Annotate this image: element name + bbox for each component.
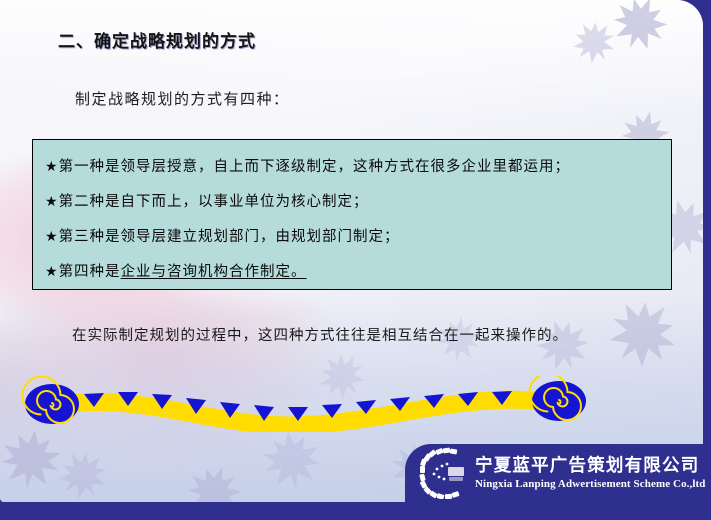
star-bullet-icon: ★ (45, 158, 59, 174)
list-item: ★第一种是领导层授意，自上而下逐级制定，这种方式在很多企业里都运用； (45, 149, 671, 184)
closing-paragraph: 在实际制定规划的过程中，这四种方式往往是相互结合在一起来操作的。 (72, 324, 568, 345)
slide-content-panel: 二、确定战略规划的方式 制定战略规划的方式有四种： ★第一种是领导层授意，自上而… (0, 0, 703, 502)
footer-branding-banner: 宁夏蓝平广告策划有限公司 Ningxia Lanping Adwertiseme… (405, 444, 711, 502)
star-bullet-icon: ★ (45, 263, 59, 279)
list-item-text: 第三种是领导层建立规划部门，由规划部门制定； (59, 229, 400, 245)
star-bullet-icon: ★ (45, 193, 59, 209)
ring-of-dots-logo-icon (415, 447, 473, 499)
right-spiral-icon (530, 376, 586, 421)
slide-frame-bottom-edge (0, 501, 711, 520)
company-name-cn: 宁夏蓝平广告策划有限公司 (475, 454, 706, 476)
list-item: ★第二种是自下而上，以事业单位为核心制定； (45, 184, 671, 219)
lead-paragraph: 制定战略规划的方式有四种： (75, 88, 290, 109)
left-spiral-icon (23, 377, 79, 424)
list-item-text: 第二种是自下而上，以事业单位为核心制定； (59, 194, 369, 210)
list-item-text: 第一种是领导层授意，自上而下逐级制定，这种方式在很多企业里都运用； (59, 159, 571, 175)
bullet-list-box: ★第一种是领导层授意，自上而下逐级制定，这种方式在很多企业里都运用； ★第二种是… (32, 139, 672, 290)
maple-leaf-icon (258, 424, 326, 496)
company-name-en: Ningxia Lanping Adwertisement Scheme Co.… (475, 477, 706, 492)
page-title: 二、确定战略规划的方式 (58, 27, 256, 52)
list-item-text-underlined: 企业与咨询机构合作制定。 (121, 264, 307, 280)
list-item: ★第四种是企业与咨询机构合作制定。 (45, 254, 671, 289)
slide-canvas: 二、确定战略规划的方式 制定战略规划的方式有四种： ★第一种是领导层授意，自上而… (0, 0, 711, 520)
footer-company-text: 宁夏蓝平广告策划有限公司 Ningxia Lanping Adwertiseme… (475, 454, 706, 492)
star-bullet-icon: ★ (45, 228, 59, 244)
spiral-wave-divider-icon (22, 376, 588, 432)
list-item: ★第三种是领导层建立规划部门，由规划部门制定； (45, 219, 671, 254)
slide-frame-right-edge (702, 0, 711, 520)
list-item-text-prefix: 第四种是 (59, 264, 121, 280)
